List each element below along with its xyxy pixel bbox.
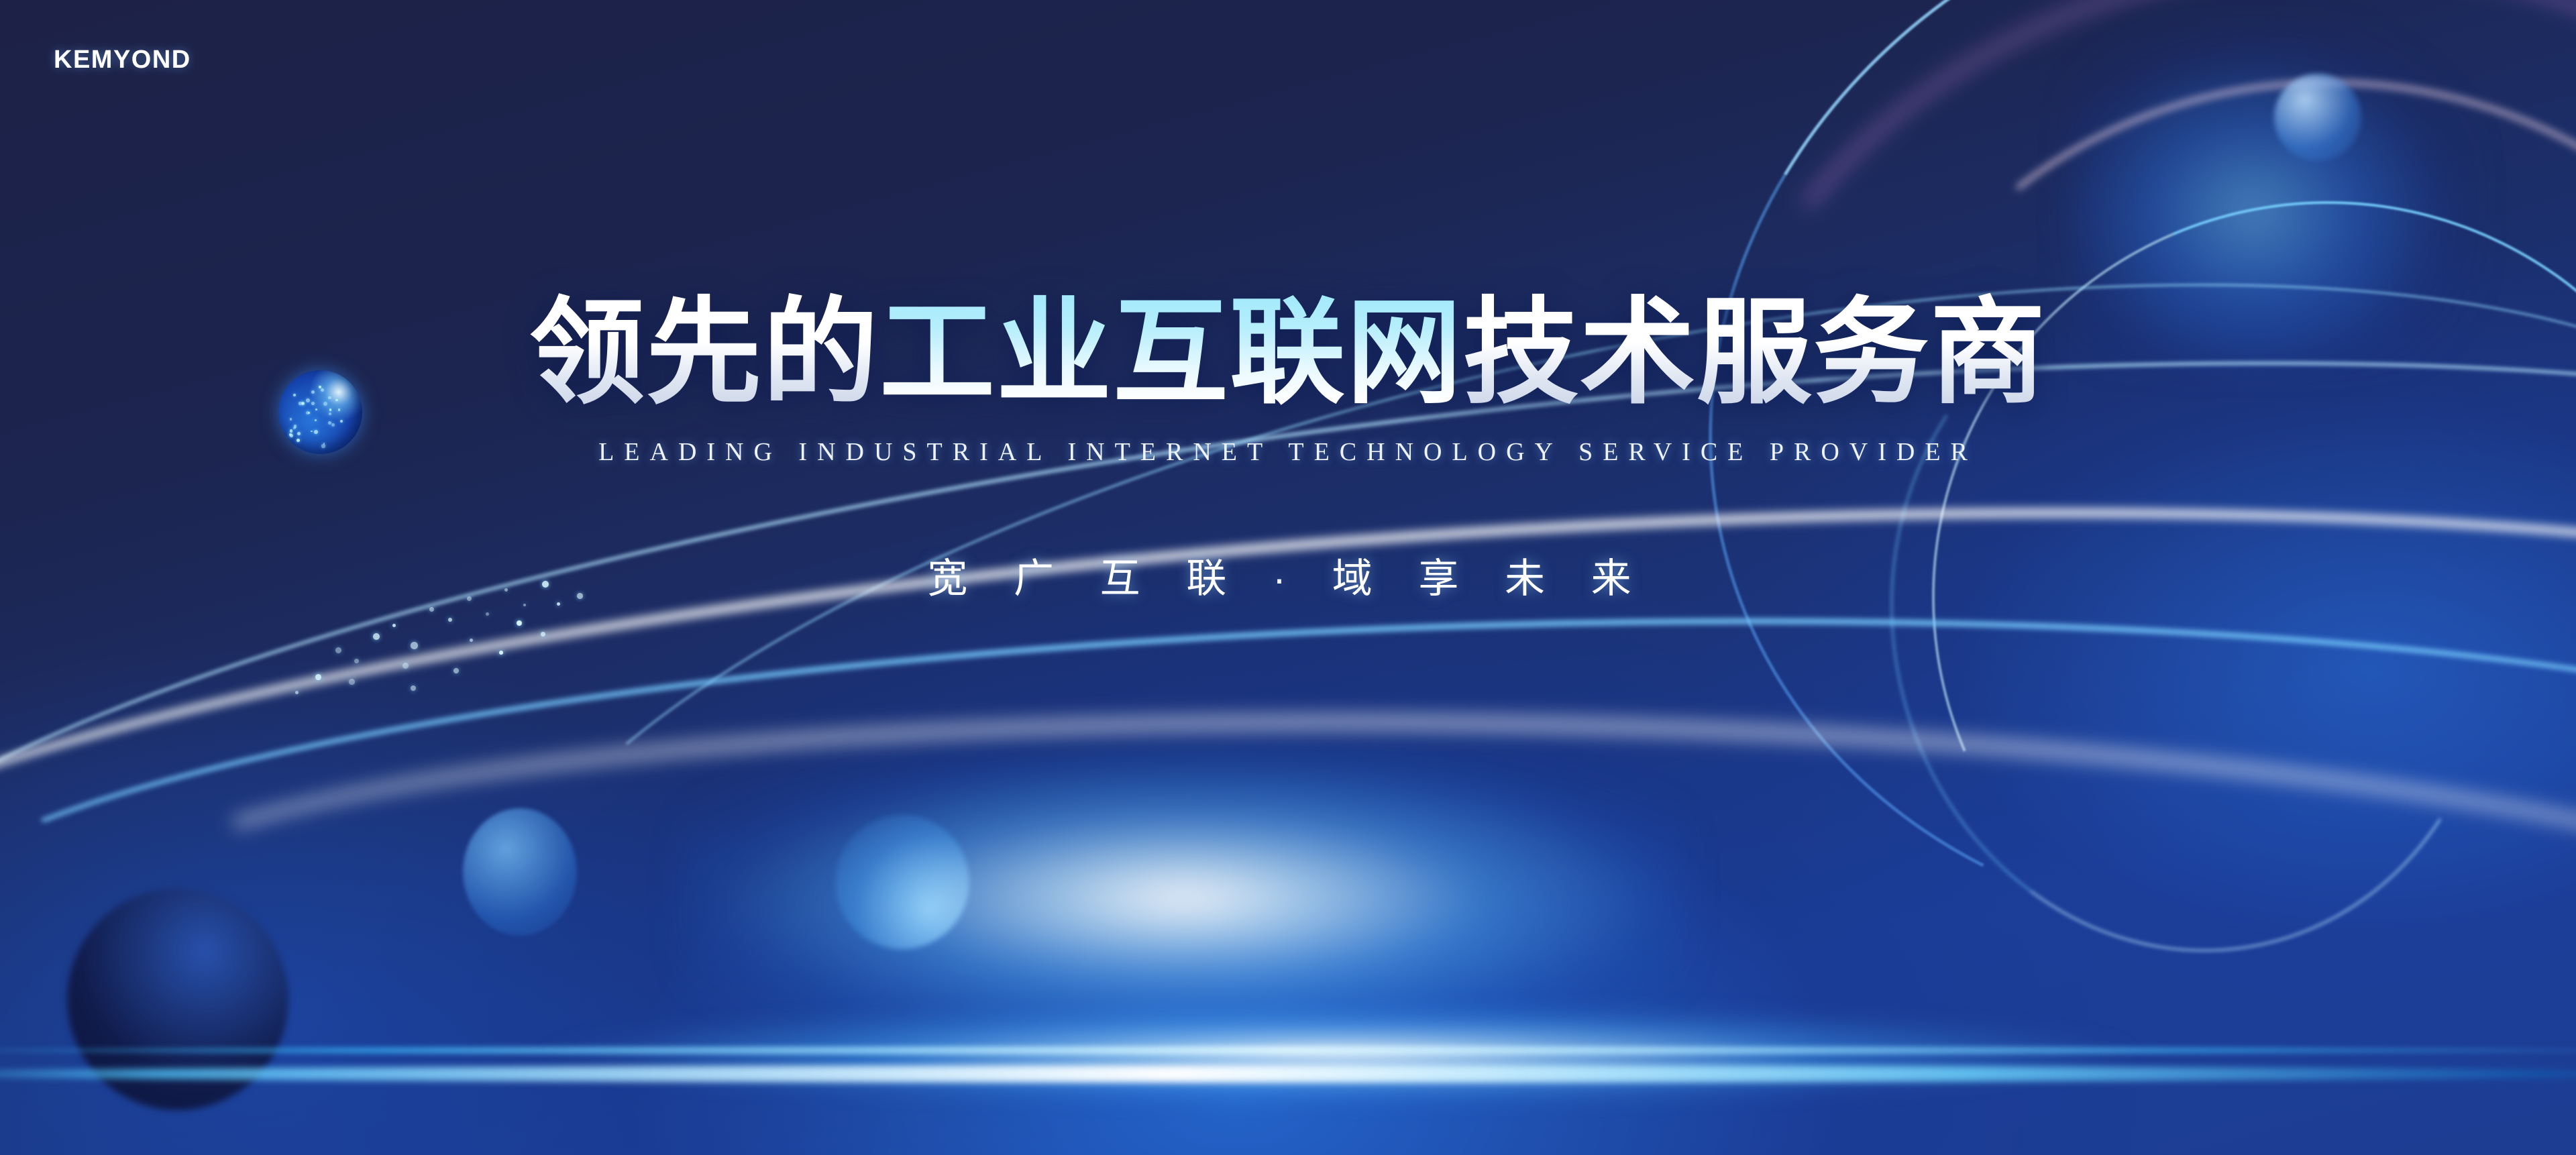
page-title: 领先的工业互联网技术服务商 <box>529 295 2047 410</box>
tagline-separator: · <box>1273 556 1303 601</box>
headline-segment-2: 工业互联网 <box>879 288 1463 417</box>
tagline: 宽 广 互 联 · 域 享 未 来 <box>927 546 1648 604</box>
tagline-right: 域 享 未 来 <box>1332 556 1649 601</box>
headline-segment-1: 领先的 <box>529 288 879 417</box>
headline-segment-3: 技术服务商 <box>1463 288 2047 417</box>
tagline-left: 宽 广 互 联 <box>927 556 1244 601</box>
banner-canvas: KEMYOND 领先的工业互联网技术服务商 LEADING INDUSTRIAL… <box>0 0 2576 1155</box>
page-subtitle: LEADING INDUSTRIAL INTERNET TECHNOLOGY S… <box>598 437 1978 467</box>
hero-content: 领先的工业互联网技术服务商 LEADING INDUSTRIAL INTERNE… <box>0 0 2576 1155</box>
